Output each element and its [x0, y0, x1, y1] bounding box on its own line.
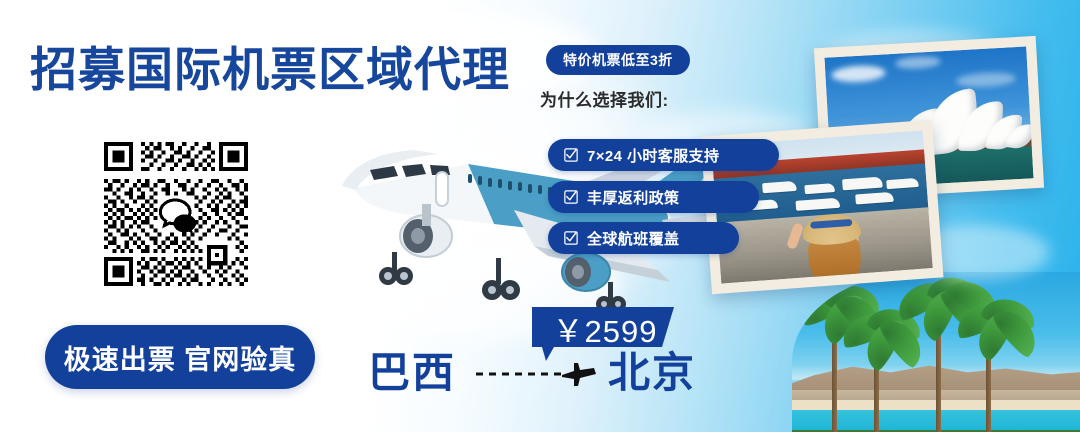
feature-pill-support: 7×24 小时客服支持 [548, 139, 779, 171]
discount-badge: 特价机票低至3折 [546, 45, 690, 75]
origin-city: 巴西 [368, 348, 456, 398]
page-title: 招募国际机票区域代理 [30, 42, 510, 98]
cta-button[interactable]: 极速出票 官网验真 [45, 325, 315, 389]
feature-pill-rebate: 丰厚返利政策 [548, 181, 759, 213]
checkbox-check-icon [564, 148, 578, 162]
travel-agent-recruitment-banner: 招募国际机票区域代理 [0, 0, 1080, 432]
route-connector [474, 358, 602, 388]
wechat-qr-code-image [100, 138, 252, 290]
airplane-takeoff-illustration [318, 100, 738, 330]
price-value: ￥2599 [545, 309, 665, 347]
feature-pill-label: 丰厚返利政策 [587, 187, 679, 208]
wechat-qr-code[interactable] [100, 138, 252, 290]
photo-tropical-beach [792, 272, 1080, 432]
wechat-speech-bubble-icon [158, 196, 197, 234]
feature-pill-label: 全球航班覆盖 [587, 228, 679, 249]
airplane-icon [562, 363, 596, 386]
feature-pill-label: 7×24 小时客服支持 [587, 145, 719, 166]
feature-pill-coverage: 全球航班覆盖 [548, 222, 739, 254]
checkbox-check-icon [564, 231, 578, 245]
checkbox-check-icon [564, 190, 578, 204]
why-choose-us-label: 为什么选择我们: [540, 86, 669, 111]
destination-city: 北京 [608, 348, 696, 398]
